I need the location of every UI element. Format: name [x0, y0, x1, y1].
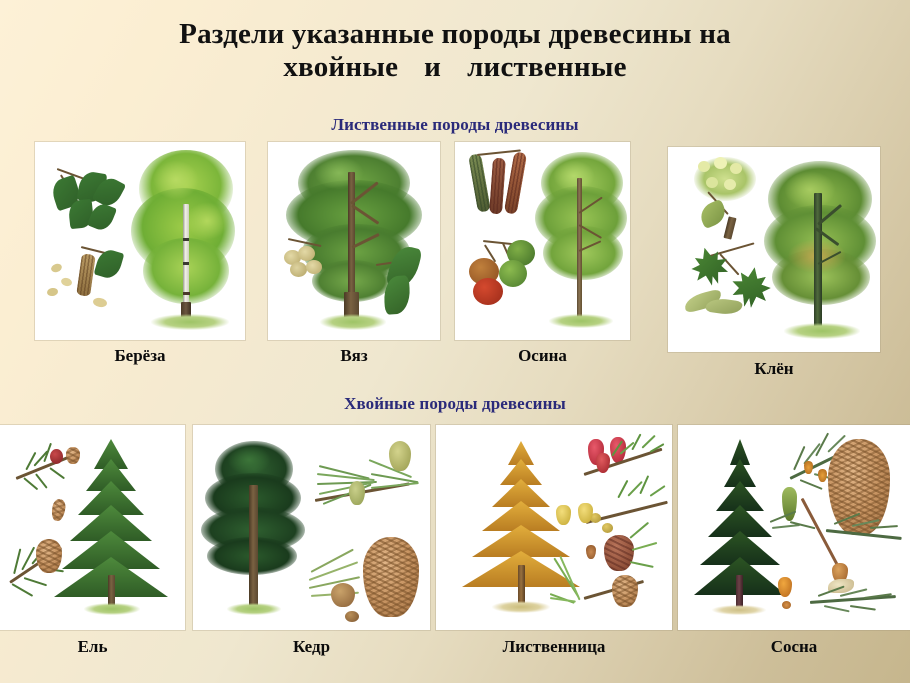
tree-card-cedar[interactable]: Кедр [193, 425, 430, 665]
cedar-tree-illustration [193, 425, 430, 630]
tree-card-label-elm: Вяз [268, 346, 440, 366]
section-header-coniferous: Хвойные породы древесины [0, 394, 910, 414]
page-title-line-1: Раздели указанные породы древесины на [0, 18, 910, 51]
page-title-line-2: хвойныеилиственные [0, 51, 910, 84]
tree-card-maple[interactable]: Клён [668, 147, 880, 387]
tree-card-pine[interactable]: Сосна [678, 425, 910, 665]
page-title-word-and: и [424, 51, 441, 83]
page-title: Раздели указанные породы древесины на хв… [0, 18, 910, 84]
tree-card-larch[interactable]: Лиственница [436, 425, 672, 665]
larch-tree-illustration [436, 425, 672, 630]
tree-card-aspen[interactable]: Осина [455, 142, 630, 374]
tree-card-label-pine: Сосна [678, 637, 910, 657]
page-title-word-coniferous: хвойные [283, 51, 398, 83]
maple-tree-illustration [668, 147, 880, 352]
elm-tree-illustration [268, 142, 440, 340]
tree-card-label-aspen: Осина [455, 346, 630, 366]
tree-card-birch[interactable]: Берёза [35, 142, 245, 374]
page-title-word-deciduous: лиственные [467, 51, 627, 83]
tree-card-label-larch: Лиственница [436, 637, 672, 657]
birch-tree-illustration [35, 142, 245, 340]
pine-tree-illustration [678, 425, 910, 630]
tree-card-label-maple: Клён [668, 359, 880, 379]
aspen-tree-illustration [455, 142, 630, 340]
section-header-deciduous: Лиственные породы древесины [0, 115, 910, 135]
tree-card-label-cedar: Кедр [193, 637, 430, 657]
tree-card-elm[interactable]: Вяз [268, 142, 440, 374]
tree-card-label-birch: Берёза [35, 346, 245, 366]
spruce-tree-illustration [0, 425, 185, 630]
tree-card-spruce[interactable]: Ель [0, 425, 185, 665]
tree-card-label-spruce: Ель [0, 637, 185, 657]
slide-canvas: Раздели указанные породы древесины на хв… [0, 0, 910, 683]
